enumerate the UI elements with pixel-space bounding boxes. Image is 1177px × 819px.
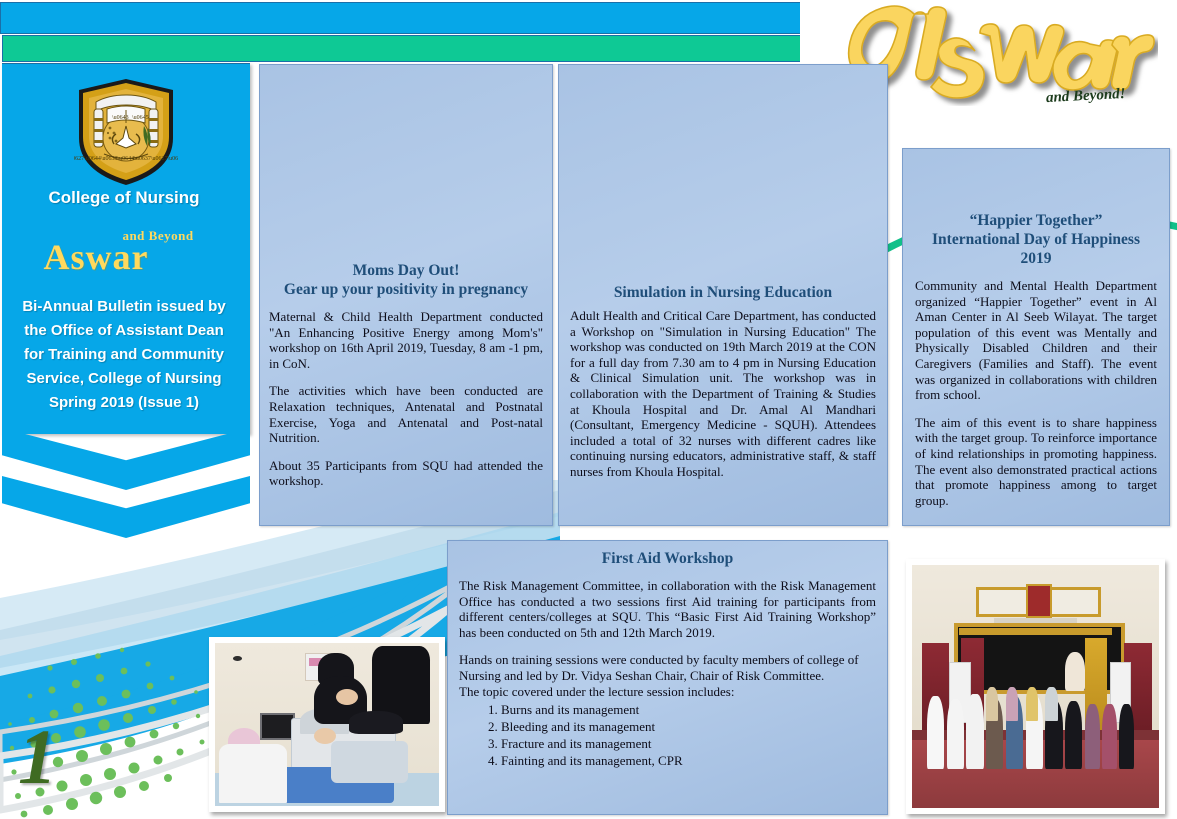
article-title: Simulation in Nursing Education — [570, 283, 876, 302]
sidebar-chevron-upper — [2, 428, 250, 490]
article-paragraph: Maternal & Child Health Department condu… — [269, 309, 543, 371]
happier-together-photo — [906, 559, 1165, 814]
sidebar-bulletin-description: Bi-Annual Bulletin issued by the Office … — [14, 295, 234, 415]
article-body: Adult Health and Critical Care Departmen… — [570, 308, 876, 480]
article-card-moms-day-out: Moms Day Out! Gear up your positivity in… — [259, 64, 553, 526]
top-banner-green-bar — [2, 35, 820, 62]
top-banner-blue-bar — [0, 2, 822, 34]
article-paragraph: Adult Health and Critical Care Departmen… — [570, 308, 876, 480]
article-card-happier-together: “Happier Together” International Day of … — [902, 148, 1170, 526]
article-paragraph: About 35 Participants from SQU had atten… — [269, 458, 543, 489]
article-paragraph: Community and Mental Health Department o… — [915, 278, 1157, 403]
list-item: Fainting and its management, CPR — [501, 752, 876, 769]
article-title: Moms Day Out! Gear up your positivity in… — [269, 261, 543, 299]
article-title: First Aid Workshop — [459, 549, 876, 568]
article-paragraph: The aim of this event is to share happin… — [915, 415, 1157, 509]
svg-text:\u0643: \u0643 — [112, 115, 129, 121]
article-paragraph: The activities which have been conducted… — [269, 383, 543, 445]
list-item: Bleeding and its management — [501, 718, 876, 735]
article-title-line1: First Aid Workshop — [459, 549, 876, 568]
first-aid-training-photo — [209, 637, 445, 812]
sidebar-aswar-wordmark: Aswar — [0, 236, 248, 278]
article-title: “Happier Together” International Day of … — [915, 211, 1157, 268]
article-title-line2: Gear up your positivity in pregnancy — [269, 280, 543, 299]
article-title-line1: Simulation in Nursing Education — [570, 283, 876, 302]
squ-crest-icon: \u0643\u0645 \u062c\u0627\u0645\u0639\u0… — [74, 76, 178, 188]
article-title-line1: “Happier Together” — [915, 211, 1157, 230]
article-card-simulation-in-nursing-education: Simulation in Nursing Education Adult He… — [558, 64, 888, 526]
bulletin-page: \u0643\u0645 \u062c\u0627\u0645\u0639\u0… — [0, 0, 1177, 819]
svg-text:\u0645: \u0645 — [132, 115, 149, 121]
list-item: Burns and its management — [501, 701, 876, 718]
svg-text:\u062c\u0627\u0645\u0639\u0629: \u062c\u0627\u0645\u0639\u0629 \u0627\u0… — [74, 156, 178, 162]
article-paragraph: The topic covered under the lecture sess… — [459, 684, 876, 700]
article-title-line1: Moms Day Out! — [269, 261, 543, 280]
article-body: Community and Mental Health Department o… — [915, 278, 1157, 508]
first-aid-topic-list: Burns and its management Bleeding and it… — [459, 701, 876, 769]
article-card-first-aid-workshop: First Aid Workshop The Risk Management C… — [447, 540, 888, 815]
list-item: Fracture and its management — [501, 735, 876, 752]
sidebar-college-name: College of Nursing — [0, 188, 248, 208]
page-number: 1 — [18, 718, 57, 796]
article-body: The Risk Management Committee, in collab… — [459, 578, 876, 769]
article-title-line2: International Day of Happiness 2019 — [915, 230, 1157, 268]
article-paragraph: Hands on training sessions were conducte… — [459, 652, 876, 683]
article-paragraph: The Risk Management Committee, in collab… — [459, 578, 876, 640]
article-body: Maternal & Child Health Department condu… — [269, 309, 543, 489]
